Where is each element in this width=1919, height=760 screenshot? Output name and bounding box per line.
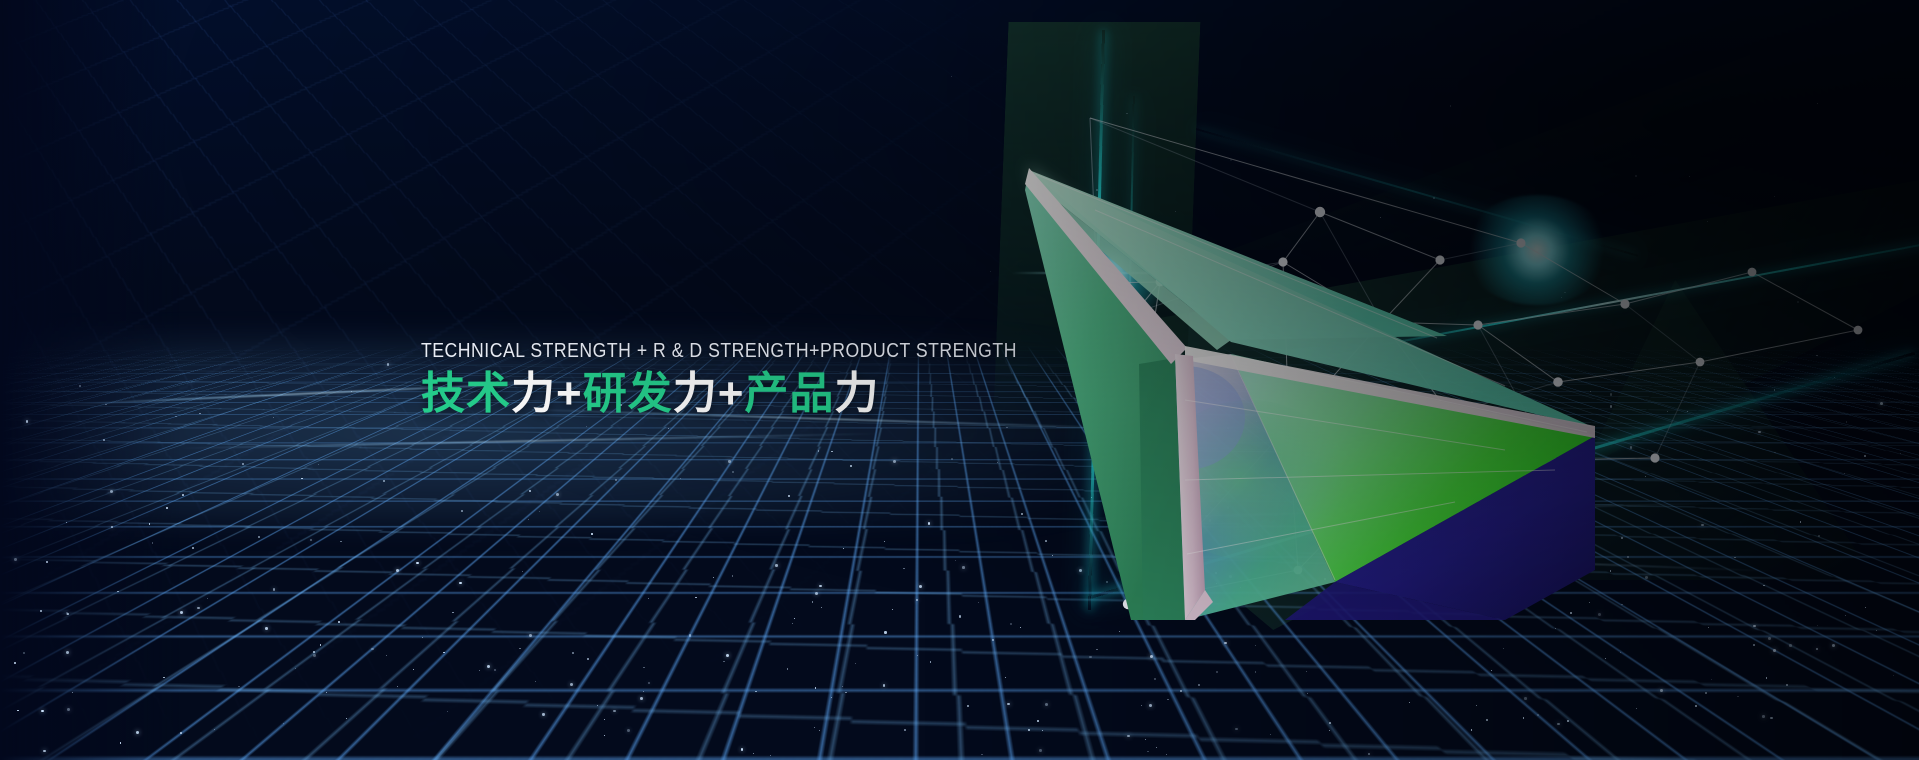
headline-english: TECHNICAL STRENGTH + R & D STRENGTH+PROD… — [421, 339, 903, 363]
headline-chinese: 技术力+研发力+产品力 — [421, 369, 981, 418]
headline-chinese-part-7: 力 — [834, 369, 879, 418]
headline-chinese-part-1: 力 — [511, 369, 556, 418]
headline-block: TECHNICAL STRENGTH + R & D STRENGTH+PROD… — [421, 339, 981, 418]
hero-banner: TECHNICAL STRENGTH + R & D STRENGTH+PROD… — [0, 0, 1919, 760]
headline-chinese-part-0: 技术 — [421, 369, 511, 418]
headline-chinese-part-4: 力 — [673, 369, 718, 418]
headline-chinese-part-6: 产品 — [744, 369, 834, 418]
triangular-prism-graphic — [1035, 150, 1595, 620]
headline-chinese-part-2: + — [556, 369, 583, 418]
headline-chinese-part-5: + — [718, 369, 745, 418]
headline-chinese-part-3: 研发 — [583, 369, 673, 418]
